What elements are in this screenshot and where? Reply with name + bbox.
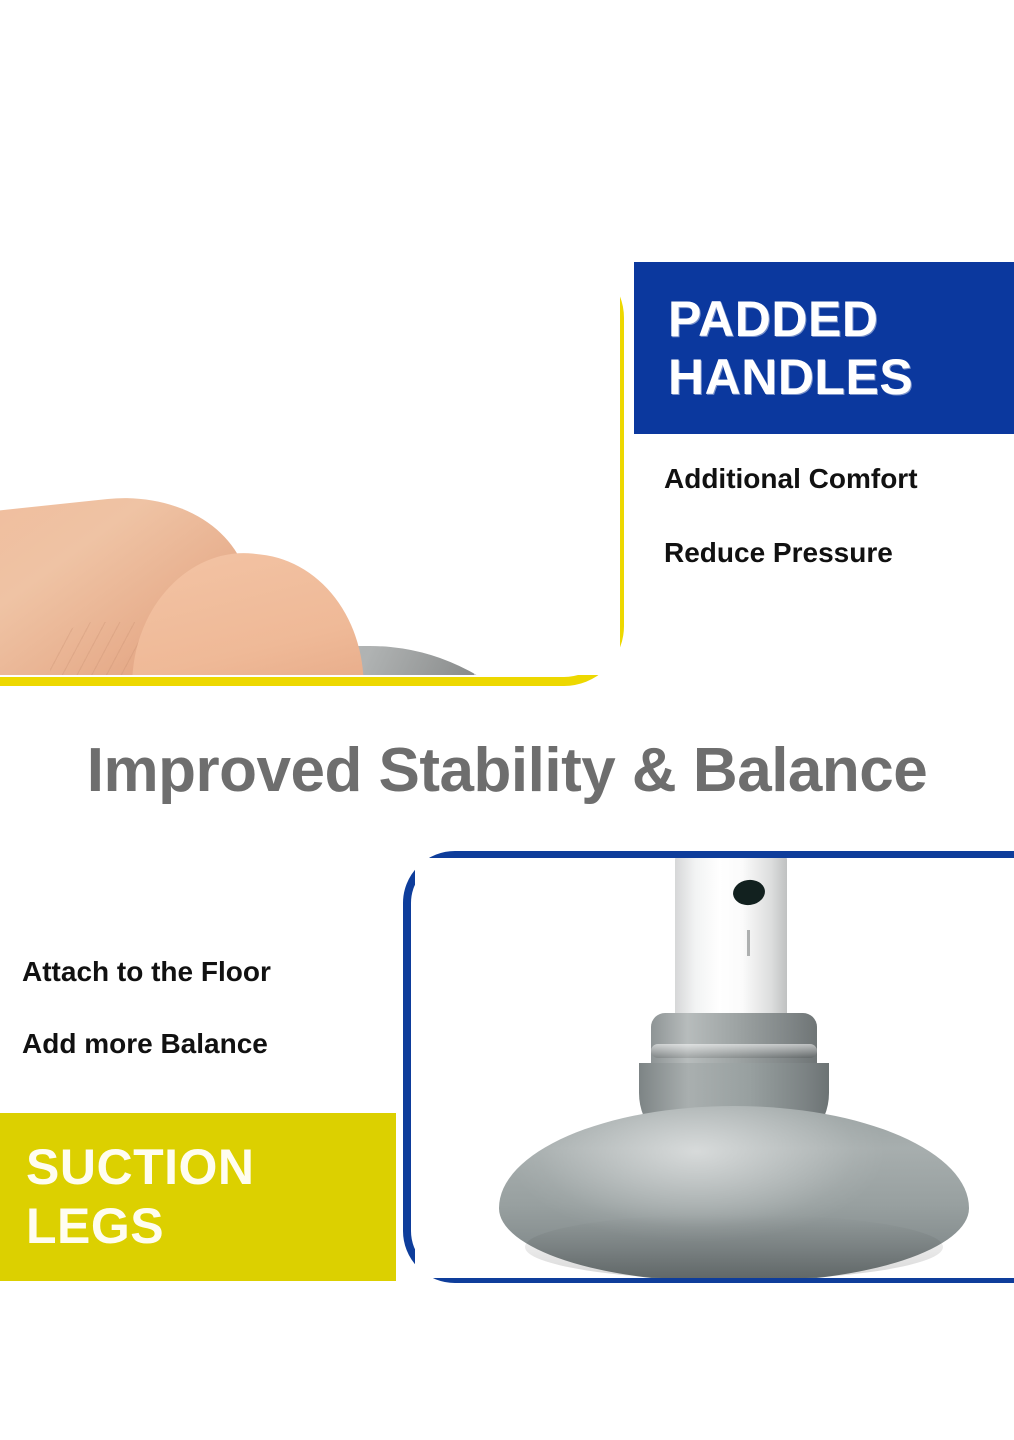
main-headline: Improved Stability & Balance bbox=[0, 735, 1014, 806]
suction-cup-shadow bbox=[525, 1214, 943, 1278]
suction-leg-photo bbox=[415, 858, 1014, 1278]
hand-illustration bbox=[0, 502, 390, 675]
padded-handles-banner: PADDED HANDLES bbox=[634, 262, 1014, 434]
top-feature-item-2: Reduce Pressure bbox=[664, 539, 1004, 567]
suction-legs-line-2: LEGS bbox=[26, 1197, 396, 1256]
bottom-feature-list: Attach to the Floor Add more Balance bbox=[22, 958, 392, 1102]
padded-handles-line-1: PADDED bbox=[668, 290, 1014, 348]
top-feature-item-1: Additional Comfort bbox=[664, 465, 1004, 493]
padded-handle-photo bbox=[0, 250, 620, 675]
suction-legs-line-1: SUCTION bbox=[26, 1138, 396, 1197]
infographic-canvas: PADDED HANDLES Additional Comfort Reduce… bbox=[0, 0, 1014, 1440]
padded-handles-line-2: HANDLES bbox=[668, 348, 1014, 406]
bottom-feature-item-2: Add more Balance bbox=[22, 1030, 392, 1058]
bottom-feature-item-1: Attach to the Floor bbox=[22, 958, 392, 986]
top-feature-list: Additional Comfort Reduce Pressure bbox=[664, 465, 1004, 613]
tube-marking bbox=[747, 930, 750, 956]
rubber-collar-rim bbox=[651, 1044, 817, 1058]
suction-legs-banner: SUCTION LEGS bbox=[0, 1113, 396, 1281]
